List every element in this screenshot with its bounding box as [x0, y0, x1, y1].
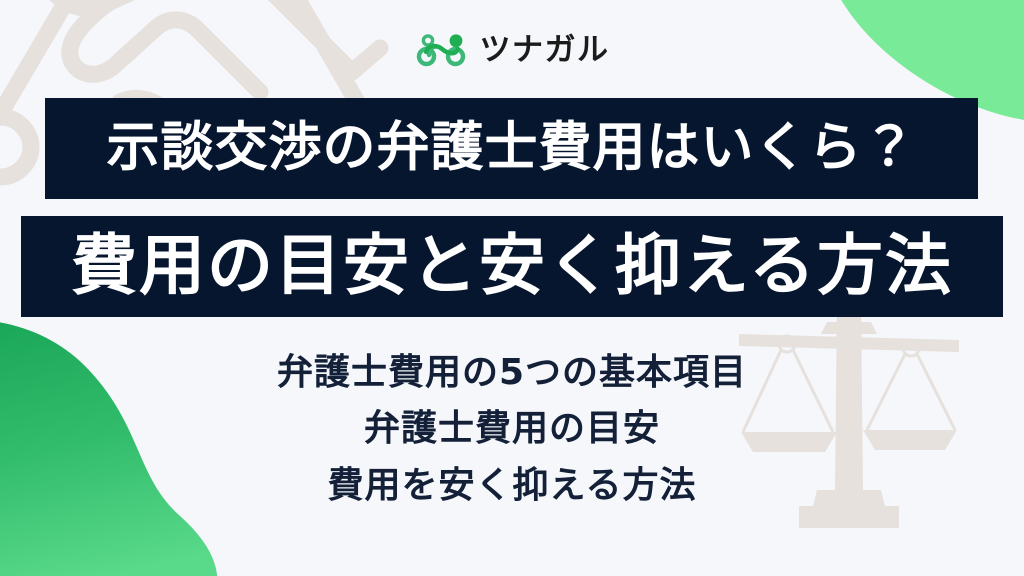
headline-line-2: 費用の目安と安く抑える方法: [71, 234, 953, 300]
headline-bar-secondary: 費用の目安と安く抑える方法: [21, 216, 1003, 317]
topic-list: 弁護士費用の5つの基本項目 弁護士費用の目安 費用を安く抑える方法: [0, 352, 1024, 506]
list-item: 弁護士費用の目安: [364, 408, 660, 449]
tsunagaru-infinity-logo-icon: [415, 33, 471, 67]
headline-bar-primary: 示談交渉の弁護士費用はいくら？: [45, 98, 978, 199]
brand-logo: ツナガル: [0, 33, 1024, 67]
brand-wordmark: ツナガル: [480, 35, 610, 66]
thumbnail-canvas: ツナガル 示談交渉の弁護士費用はいくら？ 費用の目安と安く抑える方法 弁護士費用…: [0, 0, 1024, 576]
list-item: 弁護士費用の5つの基本項目: [277, 352, 747, 393]
list-item: 費用を安く抑える方法: [328, 465, 697, 506]
headline-line-1: 示談交渉の弁護士費用はいくら？: [107, 122, 917, 175]
